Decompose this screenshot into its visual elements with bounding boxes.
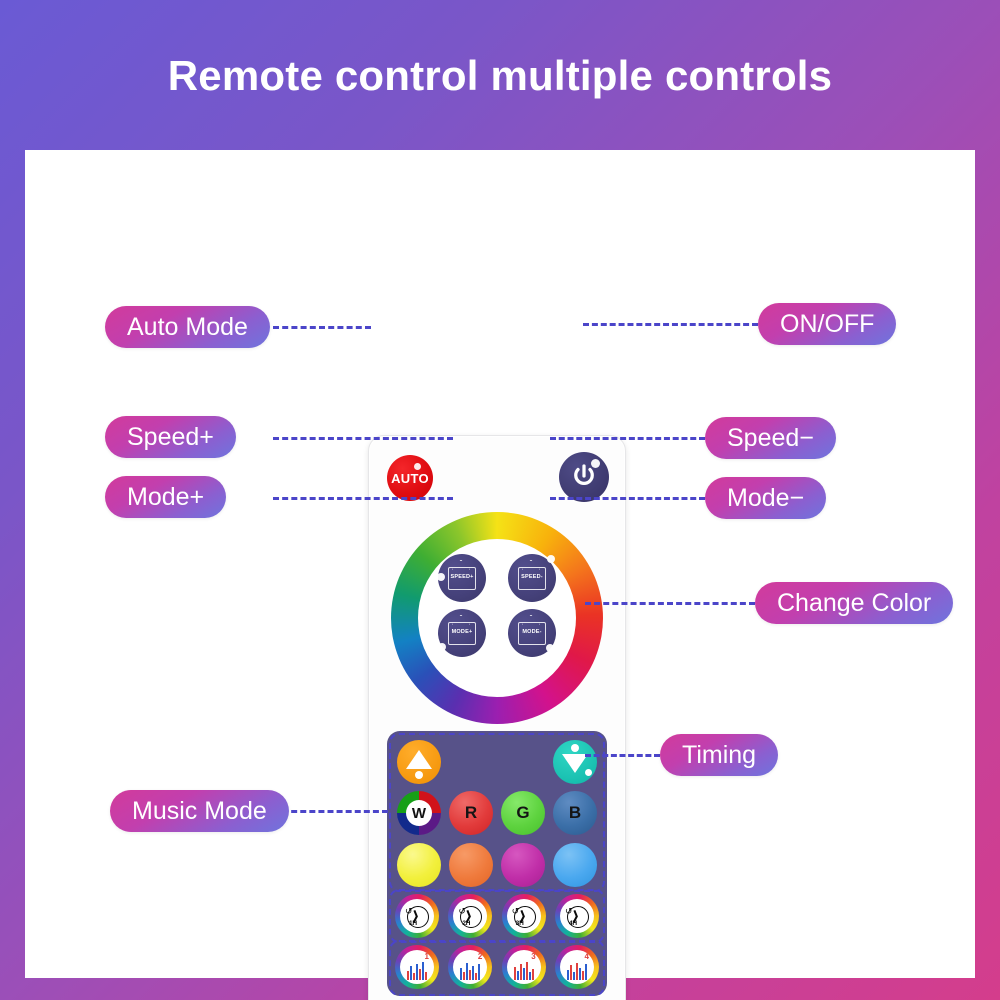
brightness-down-spark xyxy=(571,744,579,752)
clock-icon: ↺ 1H xyxy=(404,903,430,929)
music-2-label: 2 xyxy=(478,953,482,961)
page-title: Remote control multiple controls xyxy=(0,52,1000,100)
house-icon: MODE+ xyxy=(448,622,476,645)
music-4-label: 4 xyxy=(585,953,589,961)
music-1-button[interactable]: 1 xyxy=(395,945,439,989)
equalizer-icon: 3 xyxy=(510,954,538,980)
timer-2h-button[interactable]: ↺ 2H xyxy=(448,894,492,938)
color-button-yellow[interactable] xyxy=(397,843,441,887)
timer-1h-label: 1H xyxy=(409,920,417,927)
connector-timing xyxy=(585,754,660,757)
connector-mode-minus xyxy=(550,497,705,500)
auto-button-label: AUTO xyxy=(391,471,429,486)
timer-4h-face: ↺ 4H xyxy=(560,899,594,933)
music-button-row: 1 2 xyxy=(395,945,599,989)
brightness-down-spark2 xyxy=(585,769,592,776)
music-1-label: 1 xyxy=(425,953,429,961)
callout-music-mode[interactable]: Music Mode xyxy=(110,790,289,832)
connector-music-mode xyxy=(273,810,388,813)
wheel-button-speed-minus-label: SPEED- xyxy=(521,575,543,581)
brightness-down-button[interactable] xyxy=(553,740,597,784)
speed-minus-highlight xyxy=(547,555,555,563)
callout-change-color[interactable]: Change Color xyxy=(755,582,953,624)
connector-on-off xyxy=(583,323,758,326)
power-button-highlight xyxy=(591,459,600,468)
house-icon: SPEED- xyxy=(518,567,546,590)
mode-minus-highlight xyxy=(546,644,554,652)
timer-3h-label: 3H xyxy=(516,920,524,927)
color-button-white-label: W xyxy=(406,800,432,826)
clock-icon: ↺ 4H xyxy=(564,903,590,929)
clock-icon: ↺ 3H xyxy=(511,903,537,929)
page-root: Remote control multiple controls AUTO xyxy=(0,0,1000,1000)
brightness-up-spark xyxy=(415,771,423,779)
connector-speed-minus xyxy=(550,437,705,440)
timer-4h-button[interactable]: ↺ 4H xyxy=(555,894,599,938)
timer-1h-face: ↺ 1H xyxy=(400,899,434,933)
callout-speed-minus[interactable]: Speed− xyxy=(705,417,836,459)
timing-button-row: ↺ 1H ↺ 2H xyxy=(395,894,599,938)
keypad-panel: W R G B xyxy=(387,731,607,996)
rgb-button-row: W R G B xyxy=(397,791,597,835)
music-4-button[interactable]: 4 xyxy=(555,945,599,989)
color-button-white[interactable]: W xyxy=(397,791,441,835)
clock-icon: ↺ 2H xyxy=(457,903,483,929)
connector-mode-plus xyxy=(273,497,453,500)
auto-button[interactable]: AUTO xyxy=(387,455,433,501)
wheel-button-mode-plus[interactable]: MODE+ xyxy=(438,609,486,657)
music-1-face: 1 xyxy=(400,950,434,984)
callout-mode-plus[interactable]: Mode+ xyxy=(105,476,226,518)
house-icon: MODE- xyxy=(518,622,546,645)
timer-3h-button[interactable]: ↺ 3H xyxy=(502,894,546,938)
white-content-panel: AUTO SPEED+ xyxy=(25,150,975,978)
music-4-face: 4 xyxy=(560,950,594,984)
color-button-light-blue[interactable] xyxy=(553,843,597,887)
music-2-face: 2 xyxy=(453,950,487,984)
music-2-button[interactable]: 2 xyxy=(448,945,492,989)
callout-mode-minus[interactable]: Mode− xyxy=(705,477,826,519)
mode-plus-highlight xyxy=(438,643,446,651)
wheel-button-speed-plus[interactable]: SPEED+ xyxy=(438,554,486,602)
callout-auto-mode[interactable]: Auto Mode xyxy=(105,306,270,348)
color-button-green[interactable]: G xyxy=(501,791,545,835)
music-3-face: 3 xyxy=(507,950,541,984)
brightness-up-button[interactable] xyxy=(397,740,441,784)
connector-auto-mode xyxy=(273,326,371,329)
power-button[interactable] xyxy=(559,452,609,502)
callout-speed-plus[interactable]: Speed+ xyxy=(105,416,236,458)
wheel-button-speed-plus-label: SPEED+ xyxy=(450,575,473,581)
speed-plus-highlight xyxy=(437,573,445,581)
color-button-orange[interactable] xyxy=(449,843,493,887)
color-button-magenta[interactable] xyxy=(501,843,545,887)
timer-4h-label: 4H xyxy=(569,920,577,927)
brightness-row xyxy=(397,740,597,784)
color-button-blue[interactable]: B xyxy=(553,791,597,835)
callout-timing[interactable]: Timing xyxy=(660,734,778,776)
music-3-label: 3 xyxy=(531,953,535,961)
wheel-button-mode-plus-label: MODE+ xyxy=(452,630,473,636)
auto-button-highlight xyxy=(414,463,421,470)
timer-1h-button[interactable]: ↺ 1H xyxy=(395,894,439,938)
equalizer-icon: 2 xyxy=(456,954,484,980)
timer-2h-label: 2H xyxy=(462,920,470,927)
remote-control-body: AUTO SPEED+ xyxy=(368,435,626,1000)
callout-on-off[interactable]: ON/OFF xyxy=(758,303,896,345)
music-3-button[interactable]: 3 xyxy=(502,945,546,989)
house-icon: SPEED+ xyxy=(448,567,476,590)
color-button-red[interactable]: R xyxy=(449,791,493,835)
equalizer-icon: 4 xyxy=(563,954,591,980)
wheel-button-speed-minus[interactable]: SPEED- xyxy=(508,554,556,602)
brightness-up-icon xyxy=(406,750,432,769)
preset-color-row xyxy=(397,843,597,887)
wheel-button-mode-minus[interactable]: MODE- xyxy=(508,609,556,657)
connector-change-color xyxy=(585,602,755,605)
color-wheel[interactable]: SPEED+ SPEED- MODE+ xyxy=(391,512,603,724)
connector-speed-plus xyxy=(273,437,453,440)
timer-2h-face: ↺ 2H xyxy=(453,899,487,933)
timer-3h-face: ↺ 3H xyxy=(507,899,541,933)
wheel-button-mode-minus-label: MODE- xyxy=(522,630,541,636)
equalizer-icon: 1 xyxy=(403,954,431,980)
